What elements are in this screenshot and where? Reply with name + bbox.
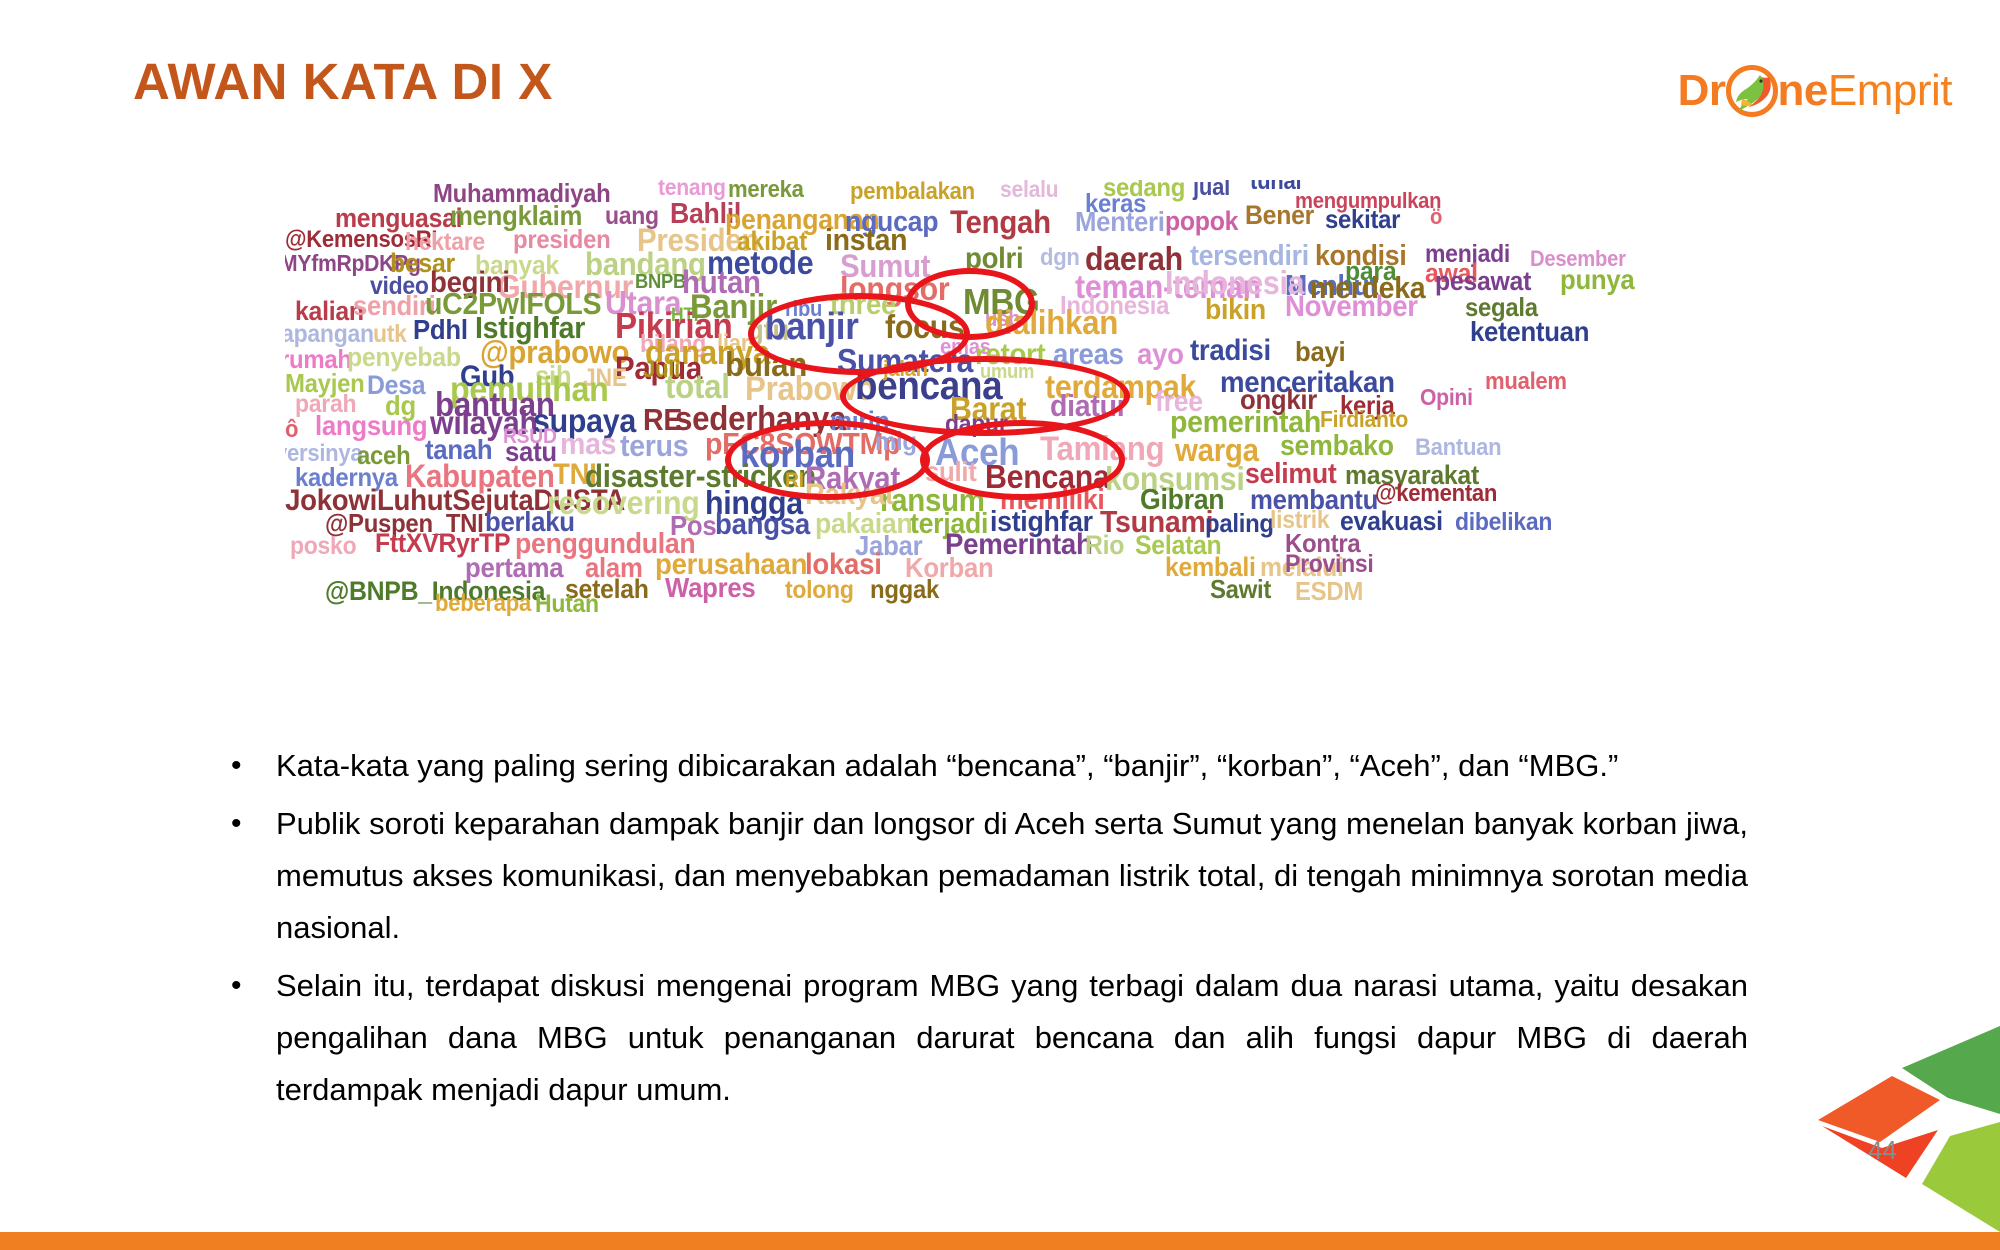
bullet-list: •Kata-kata yang paling sering dibicaraka…: [228, 740, 1748, 1122]
bullet-text: Publik soroti keparahan dampak banjir da…: [276, 798, 1748, 954]
cloud-word: umum: [980, 362, 1034, 382]
bullet-item: •Kata-kata yang paling sering dibicaraka…: [228, 740, 1748, 792]
cloud-word: Rio: [1085, 532, 1124, 559]
cloud-word: banjir: [765, 308, 859, 346]
bottom-accent-bar: [0, 1232, 2000, 1250]
bullet-text: Kata-kata yang paling sering dibicarakan…: [276, 740, 1748, 792]
cloud-word: @kementan: [1375, 482, 1497, 506]
cloud-word: dialihkan: [985, 306, 1118, 340]
cloud-word: Rakyat: [805, 480, 894, 510]
bullet-marker-icon: •: [228, 740, 276, 792]
cloud-word: Provinsi: [1285, 552, 1374, 577]
cloud-word: ketentuan: [1470, 318, 1589, 346]
bird-in-circle-icon: [1724, 63, 1780, 119]
cloud-word: total: [665, 370, 730, 404]
cloud-word: punya: [1560, 266, 1634, 294]
cloud-word: bikin: [1205, 296, 1266, 325]
bullet-item: •Selain itu, terdapat diskusi mengenai p…: [228, 960, 1748, 1116]
cloud-word: Bener: [1245, 202, 1314, 229]
cloud-word: posko: [290, 534, 356, 559]
cloud-word: pembalakan: [850, 180, 975, 204]
cloud-word: jalan: [883, 358, 928, 380]
logo-text-dr: Dr: [1678, 69, 1726, 113]
page-number: 44: [1868, 1135, 1897, 1166]
cloud-word: November: [1285, 292, 1418, 322]
cloud-word: sekitar: [1325, 206, 1400, 232]
cloud-word: Sawit: [1210, 576, 1271, 602]
cloud-word: langsung: [315, 412, 427, 440]
cloud-word: Wapres: [665, 574, 755, 602]
word-cloud-image: Muhammadiyahtenangmerekapembalakanselalu…: [285, 180, 1745, 700]
cloud-word: polri: [965, 244, 1023, 274]
cloud-word: pesawat: [1435, 268, 1531, 295]
cloud-word: Pdhl: [413, 316, 468, 344]
bullet-item: •Publik soroti keparahan dampak banjir d…: [228, 798, 1748, 954]
cloud-word: tunai: [1250, 180, 1301, 194]
cloud-word: beberapa: [435, 592, 531, 616]
cloud-word: Firdianto: [1320, 408, 1408, 431]
cloud-word: ESDM: [1295, 578, 1363, 604]
cloud-word: keras: [1085, 190, 1146, 216]
cloud-word: Tengah: [950, 206, 1051, 238]
cloud-word: Hutan: [535, 592, 599, 617]
cloud-word: popok: [1165, 208, 1238, 235]
cloud-word: mlg: [875, 428, 917, 454]
cloud-word: tradisi: [1190, 336, 1271, 366]
cloud-word: terus: [620, 430, 688, 461]
cloud-word: tenang: [658, 180, 726, 199]
cloud-word: sembako: [1280, 432, 1394, 461]
logo-text-ne: ne: [1778, 69, 1828, 113]
logo-text-emprit: Emprit: [1828, 69, 1952, 113]
drone-emprit-logo: Dr ne Emprit: [1678, 60, 1952, 122]
cloud-word: areas: [1053, 340, 1124, 370]
cloud-word: mualem: [1485, 370, 1567, 394]
bullet-marker-icon: •: [228, 798, 276, 850]
cloud-word: dibelikan: [1455, 510, 1552, 535]
cloud-word: nggak: [870, 576, 939, 602]
cloud-word: penyebab: [347, 344, 461, 371]
cloud-word: ô: [285, 418, 298, 442]
cloud-word: mas: [560, 428, 616, 459]
cloud-word: Bantuan: [1415, 436, 1501, 460]
page-title: AWAN KATA DI X: [133, 52, 553, 111]
cloud-word: ö: [1430, 206, 1442, 228]
cloud-word: diatur: [1050, 390, 1128, 421]
cloud-word: Opini: [1420, 386, 1473, 409]
cloud-word: tolong: [785, 578, 854, 603]
cloud-word: dgn: [1040, 246, 1080, 270]
cloud-word: selalu: [1000, 180, 1058, 201]
cloud-word: jual: [1193, 180, 1230, 200]
bullet-text: Selain itu, terdapat diskusi mengenai pr…: [276, 960, 1748, 1116]
cloud-word: ayo: [1137, 340, 1184, 370]
cloud-word: bangsa: [715, 510, 810, 540]
cloud-word: bayi: [1295, 338, 1345, 366]
corner-fan-decoration: [1810, 1002, 2000, 1232]
bullet-marker-icon: •: [228, 960, 276, 1012]
